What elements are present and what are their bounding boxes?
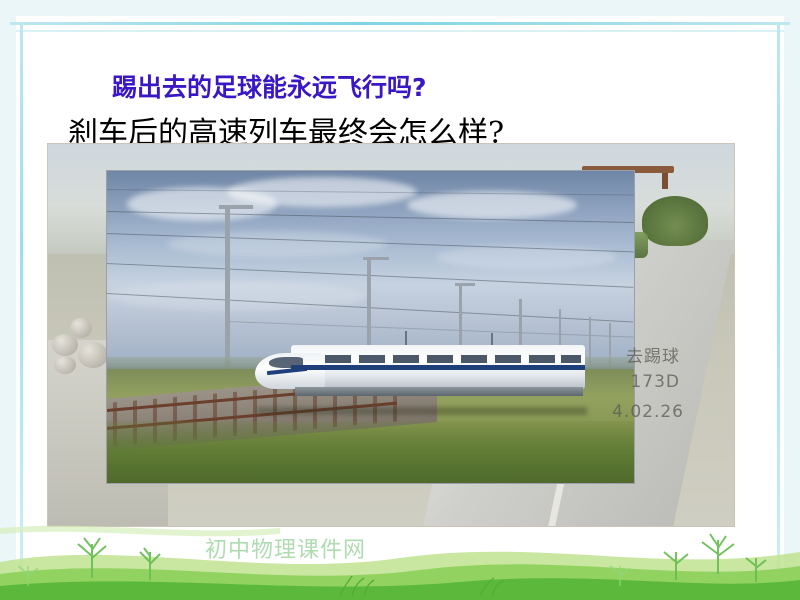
catenary-arm <box>455 283 475 286</box>
frame-left-line <box>20 22 23 578</box>
frame-top-line <box>10 22 790 25</box>
catenary-arm <box>363 257 389 260</box>
background-rocks <box>52 316 110 374</box>
photo-foreground-grass <box>107 421 634 483</box>
background-shrub <box>642 196 708 246</box>
slide: 踢出去的足球能永远飞行吗? 刹车后的高速列车最终会怎么样? <box>0 0 800 600</box>
camera-overlay-line-1: 去踢球 <box>626 342 680 367</box>
catenary-arm <box>219 205 253 209</box>
camera-overlay-line-2: 173D <box>630 372 680 392</box>
question-line-1: 踢出去的足球能永远飞行吗? <box>112 68 427 104</box>
frame-top-line-secondary <box>16 30 784 32</box>
frame-right-line <box>777 22 780 578</box>
photo-frame: 去踢球 173D 4.02.26 <box>47 143 735 527</box>
bottom-decoration <box>0 500 800 600</box>
train-photo <box>106 170 635 484</box>
train <box>255 339 585 409</box>
footer-watermark: 初中物理课件网 <box>205 532 366 564</box>
camera-overlay-line-3: 4.02.26 <box>612 402 684 422</box>
